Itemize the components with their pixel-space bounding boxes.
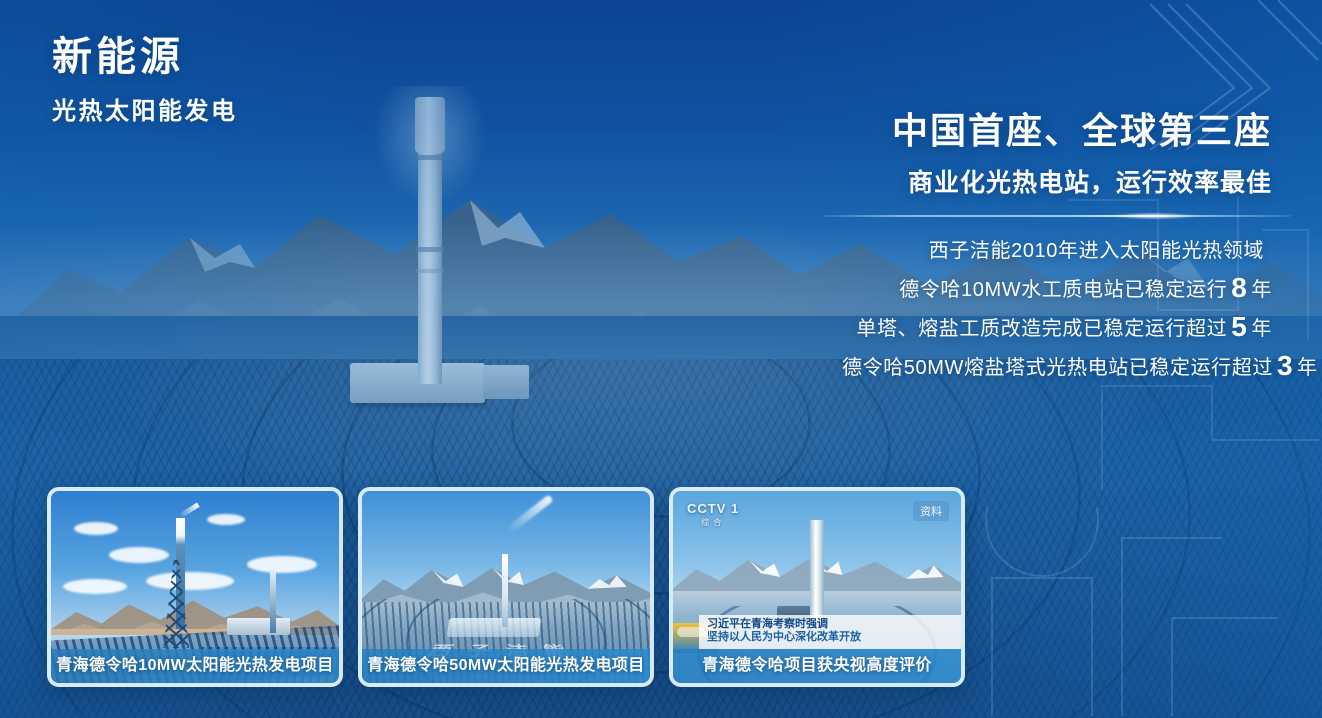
bullet-text: 西子洁能2010年进入太阳能光热领域 xyxy=(929,240,1264,262)
bullet-text: 单塔、熔盐工质改造完成已稳定运行超过 xyxy=(856,318,1227,340)
slide-root: 新能源 光热太阳能发电 中国首座、全球第三座 商业化光热电站，运行效率最佳 西子… xyxy=(0,0,1322,718)
bullet-unit: 年 xyxy=(1251,279,1272,301)
thumbnail-caption-2: 青海德令哈50MW太阳能光热发电项目 xyxy=(362,649,650,683)
cctv-logo: CCTV 1 综合 xyxy=(687,501,739,528)
bullet-item: 单塔、熔盐工质改造完成已稳定运行超过5年 xyxy=(842,313,1272,341)
thumbnail-card-2[interactable]: 西子洁能 青海德令哈50MW太阳能光热发电项目 xyxy=(358,487,654,687)
bullet-unit: 年 xyxy=(1251,318,1272,340)
cctv-logo-text: CCTV 1 xyxy=(687,501,739,516)
bullet-unit: 年 xyxy=(1297,357,1318,379)
chyron-line-1: 习近平在青海考察时强调 xyxy=(707,618,953,632)
thumbnail-caption-3: 青海德令哈项目获央视高度评价 xyxy=(673,649,961,683)
bullet-number: 8 xyxy=(1227,272,1251,303)
cctv-channel-sub: 综合 xyxy=(687,517,739,528)
bullet-number xyxy=(1264,233,1272,264)
headline: 中国首座、全球第三座 xyxy=(842,108,1272,153)
headline-divider xyxy=(824,215,1290,217)
bullet-text: 德令哈50MW熔盐塔式光热电站已稳定运行超过 xyxy=(842,357,1273,379)
archive-tag: 资料 xyxy=(913,501,949,521)
bullet-number: 5 xyxy=(1227,311,1251,342)
bullet-item: 西子洁能2010年进入太阳能光热领域 xyxy=(842,235,1272,263)
thumbnail-caption-1: 青海德令哈10MW太阳能光热发电项目 xyxy=(51,649,339,683)
subheadline: 商业化光热电站，运行效率最佳 xyxy=(842,163,1272,199)
news-chyron: 习近平在青海考察时强调 坚持以人民为中心深化改革开放 xyxy=(699,615,961,650)
bullet-item: 德令哈10MW水工质电站已稳定运行8年 xyxy=(842,274,1272,302)
page-title: 新能源 xyxy=(52,34,238,80)
bullet-list: 西子洁能2010年进入太阳能光热领域 德令哈10MW水工质电站已稳定运行8年 单… xyxy=(842,235,1272,380)
page-title-block: 新能源 光热太阳能发电 xyxy=(52,34,238,126)
page-subtitle: 光热太阳能发电 xyxy=(52,91,238,126)
chyron-line-2: 坚持以人民为中心深化改革开放 xyxy=(707,631,953,645)
bullet-text: 德令哈10MW水工质电站已稳定运行 xyxy=(899,279,1227,301)
thumbnail-row: 青海德令哈10MW太阳能光热发电项目 xyxy=(47,487,965,687)
bullet-item: 德令哈50MW熔盐塔式光热电站已稳定运行超过3年 xyxy=(842,352,1272,380)
thumbnail-card-3[interactable]: CCTV 1 综合 资料 习近平在青海考察时强调 坚持以人民为中心深化改革开放 … xyxy=(669,487,965,687)
bullet-number: 3 xyxy=(1273,350,1297,381)
thumbnail-card-1[interactable]: 青海德令哈10MW太阳能光热发电项目 xyxy=(47,487,343,687)
headline-panel: 中国首座、全球第三座 商业化光热电站，运行效率最佳 西子洁能2010年进入太阳能… xyxy=(842,108,1272,391)
